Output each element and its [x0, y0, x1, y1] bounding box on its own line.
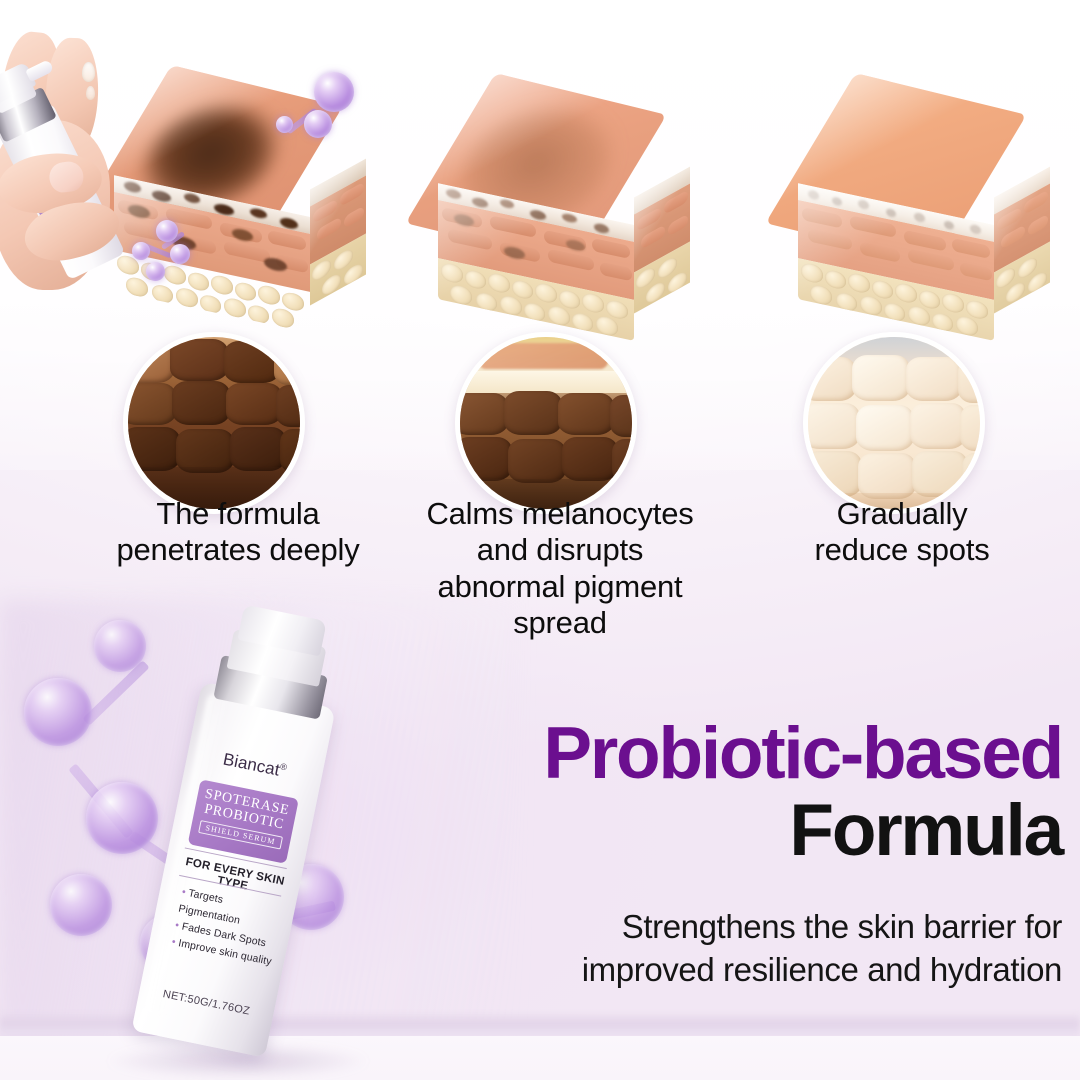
- small-bottle-nozzle: [25, 59, 54, 82]
- molecule-sphere-1: [94, 620, 146, 672]
- skin-diagram-2: [432, 86, 682, 338]
- caption-2-line-3: abnormal pigment: [385, 569, 735, 605]
- headline-line-1: Probiotic-based: [330, 718, 1062, 790]
- caption-step-1: The formula penetrates deeply: [88, 496, 388, 569]
- subheadline-block: Strengthens the skin barrier for improve…: [330, 906, 1062, 992]
- probiotic-molecule-icon-1: [268, 72, 358, 152]
- registered-mark: ®: [279, 761, 288, 772]
- caption-step-3: Gradually reduce spots: [757, 496, 1047, 569]
- caption-3-line-1: Gradually: [757, 496, 1047, 532]
- headline-line-2: Formula: [330, 794, 1062, 868]
- skin-cross-section-side-3: [994, 166, 1050, 313]
- subheadline-line-1: Strengthens the skin barrier for: [330, 906, 1062, 949]
- molecule-sphere-2: [24, 678, 92, 746]
- caption-1-line-1: The formula: [88, 496, 388, 532]
- skin-cross-section-side-1: [310, 158, 366, 305]
- magnified-inset-1: [123, 332, 305, 514]
- skin-diagram-3: [792, 86, 1042, 338]
- molecule-sphere-3: [86, 782, 158, 854]
- thumbnail: [48, 160, 85, 194]
- serum-droplet-2: [86, 86, 95, 100]
- hand-holding-bottle: [0, 28, 194, 358]
- magnified-inset-3: [803, 332, 985, 514]
- caption-1-line-2: penetrates deeply: [88, 532, 388, 568]
- promo-image-root: The formula penetrates deeply Calms mela…: [0, 0, 1080, 1080]
- subheadline-line-2: improved resilience and hydration: [330, 949, 1062, 992]
- caption-2-line-1: Calms melanocytes: [385, 496, 735, 532]
- magnified-inset-2: [455, 332, 637, 514]
- serum-droplet-1: [82, 62, 95, 82]
- headline-block: Probiotic-based Formula: [330, 718, 1062, 868]
- molecule-sphere-4: [50, 874, 112, 936]
- caption-2-line-2: and disrupts: [385, 532, 735, 568]
- caption-2-line-4: spread: [385, 605, 735, 641]
- caption-step-2: Calms melanocytes and disrupts abnormal …: [385, 496, 735, 641]
- hero-product-composition: Biancat® SPOTERASE PROBIOTIC SHIELD SERU…: [78, 604, 378, 1080]
- caption-3-line-2: reduce spots: [757, 532, 1047, 568]
- skin-cross-section-side-2: [634, 166, 690, 313]
